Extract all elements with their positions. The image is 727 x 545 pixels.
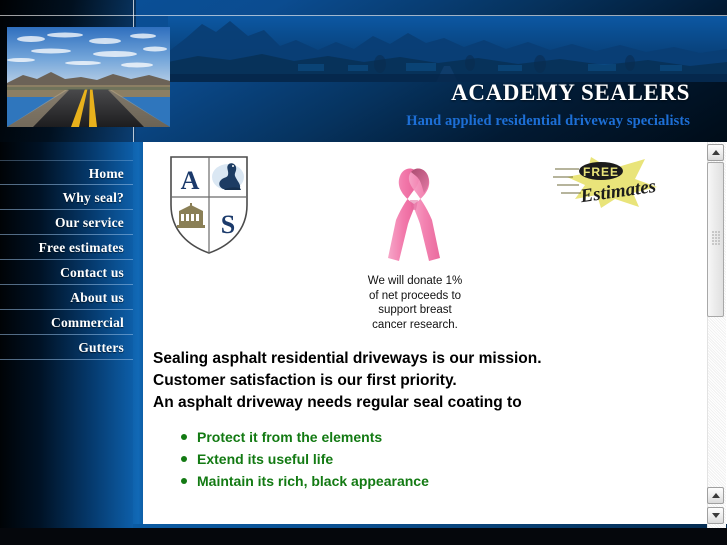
page-title: ACADEMY SEALERS [451, 80, 690, 106]
sidebar-item-why-seal[interactable]: Why seal? [0, 185, 133, 210]
scrollbar-grip-icon [712, 231, 720, 245]
page-root: ACADEMY SEALERS Hand applied residential… [0, 0, 727, 545]
list-item: Protect it from the elements [197, 426, 429, 448]
sidebar-item-home[interactable]: Home [0, 160, 133, 185]
content-panel: A S [143, 142, 700, 524]
donation-caption-line-1: We will donate 1% [345, 274, 485, 289]
sidebar-accent-strip [133, 142, 143, 545]
benefits-list: Protect it from the elements Extend its … [171, 426, 429, 492]
donation-caption-line-4: cancer research. [345, 318, 485, 333]
sidebar-nav-list: Home Why seal? Our service Free estimate… [0, 160, 133, 360]
donation-caption-line-3: support breast [345, 303, 485, 318]
site-header: ACADEMY SEALERS Hand applied residential… [0, 0, 727, 142]
sidebar-item-free-estimates[interactable]: Free estimates [0, 235, 133, 260]
site-tagline: Hand applied residential driveway specia… [406, 113, 690, 130]
sidebar-item-commercial[interactable]: Commercial [0, 310, 133, 335]
scrollbar-thumb[interactable] [707, 162, 724, 317]
sidebar-item-contact-us[interactable]: Contact us [0, 260, 133, 285]
svg-text:S: S [221, 210, 235, 239]
window-bottom-edge [0, 528, 727, 545]
sidebar-item-gutters[interactable]: Gutters [0, 335, 133, 360]
highway-road-photo [7, 27, 170, 127]
scroll-down-arrow-icon[interactable] [707, 507, 724, 524]
free-estimates-badge[interactable]: FREE Estimates [553, 155, 659, 209]
list-item: Extend its useful life [197, 448, 429, 470]
list-item: Maintain its rich, black appearance [197, 470, 429, 492]
svg-text:A: A [181, 166, 200, 195]
shield-crest-logo: A S [167, 153, 251, 257]
mission-line-2: Customer satisfaction is our first prior… [153, 370, 683, 392]
sidebar-item-our-service[interactable]: Our service [0, 210, 133, 235]
mission-line-1: Sealing asphalt residential driveways is… [153, 348, 683, 370]
scroll-up-arrow-icon[interactable] [707, 144, 724, 161]
donation-caption: We will donate 1% of net proceeds to sup… [345, 274, 485, 332]
scroll-up-arrow-icon-secondary[interactable] [707, 487, 724, 504]
svg-text:FREE: FREE [583, 165, 619, 179]
donation-caption-line-2: of net proceeds to [345, 289, 485, 304]
vertical-scrollbar[interactable] [707, 142, 725, 528]
header-horizontal-rule [0, 15, 727, 16]
sidebar-item-about-us[interactable]: About us [0, 285, 133, 310]
mountain-landscape-image [168, 16, 727, 82]
sidebar-lower-fill [0, 403, 133, 545]
mission-line-3: An asphalt driveway needs regular seal c… [153, 392, 683, 414]
pink-ribbon-icon [372, 162, 456, 272]
mission-statement: Sealing asphalt residential driveways is… [153, 348, 683, 414]
